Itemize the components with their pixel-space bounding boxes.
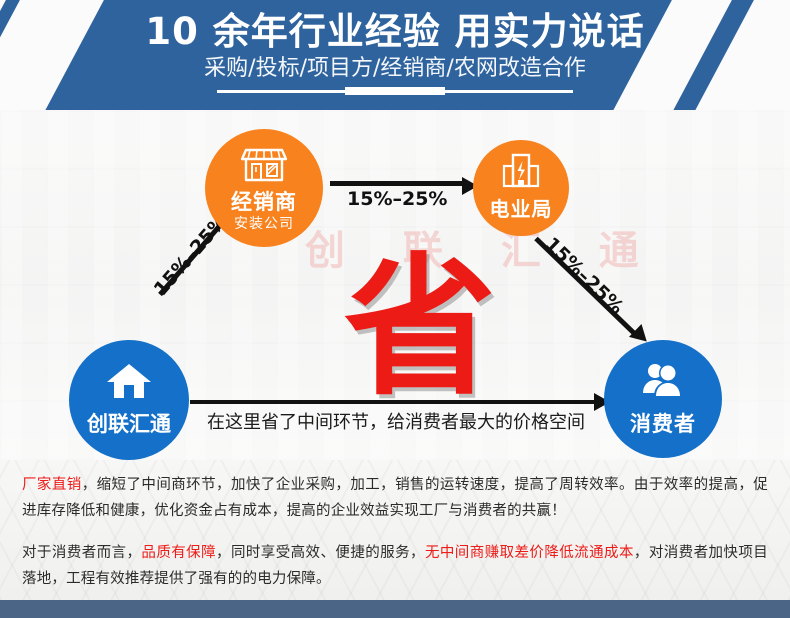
paragraph-2-highlight-2: 无中间商赚取差价降低流通成本: [425, 545, 634, 561]
savings-emphasis-character: 省: [335, 252, 505, 404]
footer-bar: [0, 600, 790, 618]
node-dealer-sublabel: 安装公司: [205, 213, 323, 233]
power-building-icon: [473, 153, 569, 193]
arrow-company-to-consumer-line: [190, 400, 600, 404]
arrow-company-to-consumer-label: 在这里省了中间环节，给消费者最大的价格空间: [190, 408, 602, 434]
storefront-icon: [205, 147, 323, 187]
page-title: 10 余年行业经验 用实力说话: [0, 9, 790, 55]
paragraph-1-rest: ，缩短了中间商环节，加快了企业采购，加工，销售的运转速度，提高了周转效率。由于效…: [22, 477, 768, 519]
paragraph-2: 对于消费者而言，品质有保障，同时享受高效、便捷的服务，无中间商赚取差价降低流通成…: [22, 540, 768, 592]
description-copy: 厂家直销，缩短了中间商环节，加快了企业采购，加工，销售的运转速度，提高了周转效率…: [0, 460, 790, 600]
header-divider-center-block: [345, 87, 445, 95]
arrow-dealer-to-bureau-label: 15%–25%: [347, 188, 447, 210]
node-dealer[interactable]: 经销商 安装公司: [205, 129, 323, 247]
paragraph-1: 厂家直销，缩短了中间商环节，加快了企业采购，加工，销售的运转速度，提高了周转效率…: [22, 472, 768, 524]
home-icon: [69, 362, 189, 404]
arrow-dealer-to-bureau-line: [330, 181, 466, 186]
node-company[interactable]: 创联汇通: [69, 340, 189, 460]
node-company-label: 创联汇通: [69, 408, 189, 438]
page-subtitle: 采购/投标/项目方/经销商/农网改造合作: [0, 55, 790, 83]
arrow-bureau-to-consumer-label: 15%–25%: [540, 233, 628, 319]
page-header: 10 余年行业经验 用实力说话 采购/投标/项目方/经销商/农网改造合作: [0, 0, 790, 110]
paragraph-2-middle: ，同时享受高效、便捷的服务，: [216, 545, 425, 561]
distribution-flow-diagram: 创 联 汇 通 省 15%–25% 15%–25% 15%–25% 在这里省了中…: [0, 110, 790, 460]
node-power-bureau[interactable]: 电业局: [473, 140, 569, 236]
node-consumer-label: 消费者: [604, 408, 722, 438]
paragraph-1-highlight: 厂家直销: [22, 477, 82, 493]
node-consumer[interactable]: 消费者: [604, 340, 722, 458]
header-divider: [0, 86, 790, 96]
node-dealer-label: 经销商: [205, 186, 323, 216]
paragraph-2-lead: 对于消费者而言，: [22, 545, 141, 561]
arrow-company-to-dealer: 15%–25%: [160, 230, 280, 360]
paragraph-2-highlight-1: 品质有保障: [141, 545, 216, 561]
users-icon: [604, 362, 722, 402]
node-power-bureau-label: 电业局: [473, 193, 569, 222]
